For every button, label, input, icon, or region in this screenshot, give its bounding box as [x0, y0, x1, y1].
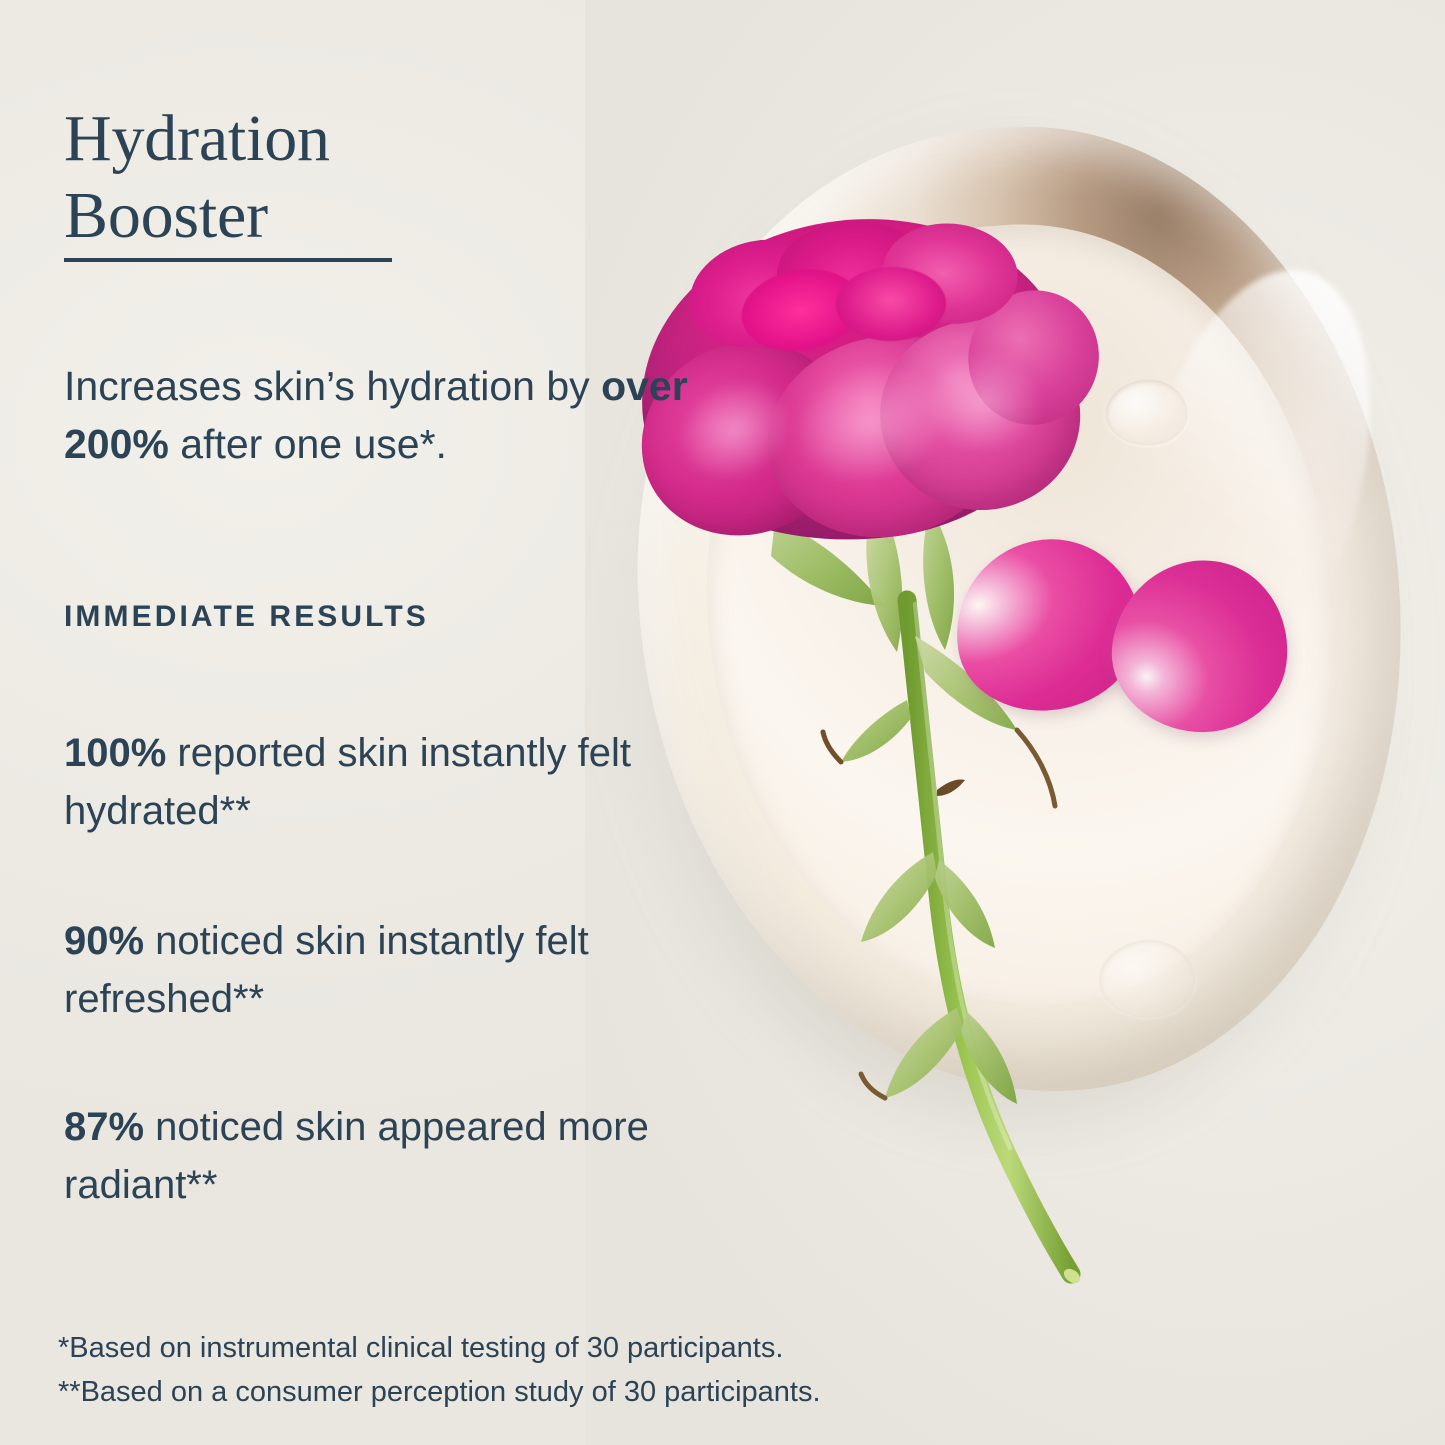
result-stat: 87% noticed skin appeared more radiant** [64, 1098, 754, 1214]
stat-description: noticed skin appeared more radiant** [64, 1105, 649, 1207]
footnote-perception: **Based on a consumer perception study o… [58, 1370, 1018, 1414]
title-divider [64, 258, 392, 262]
footnote-clinical: *Based on instrumental clinical testing … [58, 1326, 1018, 1370]
subtitle-claim: Increases skin’s hydration by over 200% … [64, 357, 744, 473]
section-heading-immediate-results: IMMEDIATE RESULTS [64, 600, 429, 634]
stat-percent: 87% [64, 1105, 144, 1149]
page-title: Hydration Booster [64, 100, 330, 254]
text-column: Hydration Booster Increases skin’s hydra… [64, 0, 764, 1445]
stat-percent: 90% [64, 919, 144, 963]
footnotes: *Based on instrumental clinical testing … [58, 1326, 1018, 1414]
subtitle-text-after: after one use*. [169, 421, 447, 467]
result-stat: 90% noticed skin instantly felt refreshe… [64, 912, 754, 1028]
product-benefit-card: Hydration Booster Increases skin’s hydra… [0, 0, 1445, 1445]
stat-percent: 100% [64, 731, 166, 775]
result-stat: 100% reported skin instantly felt hydrat… [64, 724, 754, 840]
subtitle-text-before: Increases skin’s hydration by [64, 363, 601, 409]
